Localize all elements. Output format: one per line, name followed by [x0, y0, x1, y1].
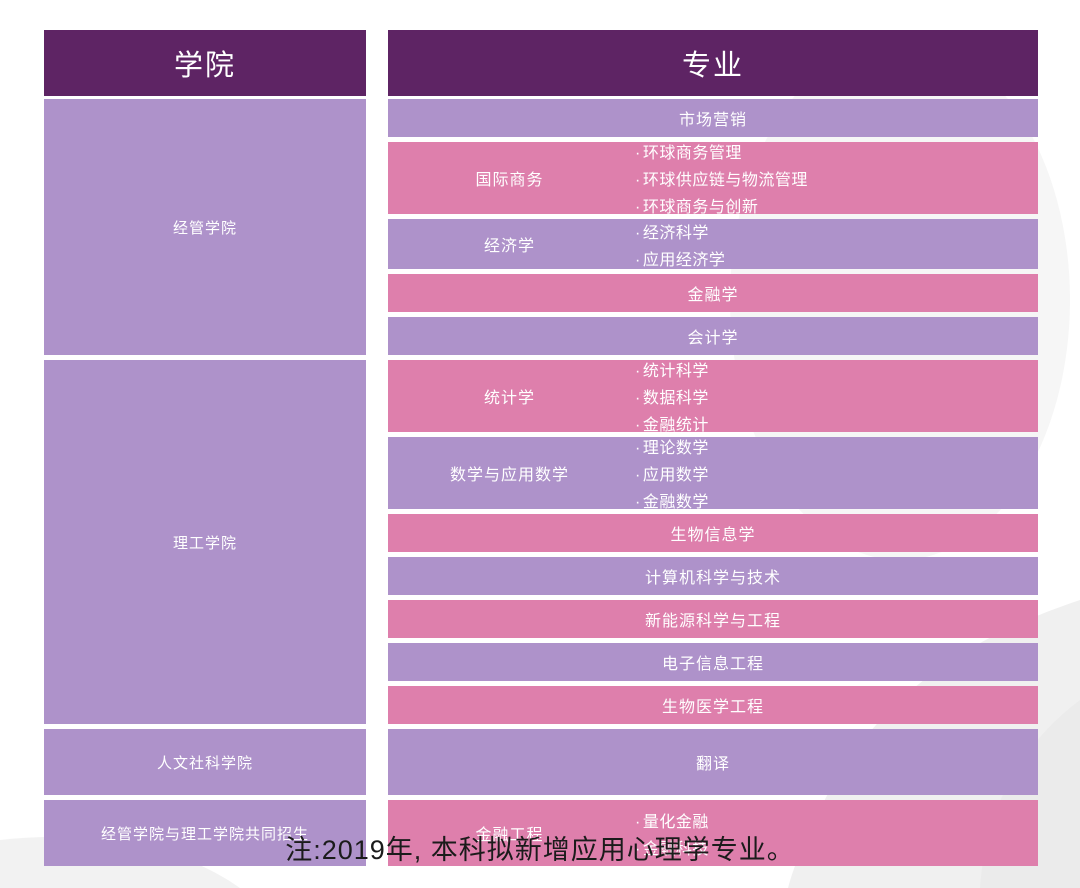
track-list: ·经济科学·应用经济学 [631, 219, 1038, 270]
track-list: ·统计科学·数据科学·金融统计 [631, 357, 1038, 435]
track-list: ·环球商务管理·环球供应链与物流管理·环球商务与创新 [631, 139, 1038, 217]
major-name: 计算机科学与技术 [388, 564, 1038, 588]
bullet-icon: · [635, 172, 641, 190]
major-name: 统计学 [388, 384, 631, 408]
major-name: 翻译 [388, 750, 1038, 774]
track-item: ·环球商务与创新 [635, 193, 1038, 217]
college-cell[interactable]: 理工学院 [44, 360, 366, 724]
major-name: 生物信息学 [388, 521, 1038, 545]
major-row[interactable]: 翻译 [388, 729, 1038, 795]
track-label: 应用经济学 [643, 252, 726, 269]
track-item: ·应用经济学 [635, 246, 1038, 270]
majors-column: 统计学·统计科学·数据科学·金融统计数学与应用数学·理论数学·应用数学·金融数学… [388, 360, 1038, 724]
bullet-icon: · [635, 225, 641, 243]
major-name: 会计学 [388, 324, 1038, 348]
track-label: 统计科学 [643, 363, 709, 380]
program-table: 学院 专业 经管学院市场营销国际商务·环球商务管理·环球供应链与物流管理·环球商… [0, 0, 1080, 888]
major-row[interactable]: 计算机科学与技术 [388, 557, 1038, 595]
majors-column: 市场营销国际商务·环球商务管理·环球供应链与物流管理·环球商务与创新经济学·经济… [388, 99, 1038, 355]
track-label: 环球供应链与物流管理 [643, 172, 808, 189]
table-section: 人文社科学院翻译 [44, 729, 1038, 795]
major-row[interactable]: 电子信息工程 [388, 643, 1038, 681]
track-label: 环球商务管理 [643, 145, 742, 162]
major-name: 数学与应用数学 [388, 461, 631, 485]
track-label: 经济科学 [643, 225, 709, 242]
major-row[interactable]: 统计学·统计科学·数据科学·金融统计 [388, 360, 1038, 432]
major-name: 经济学 [388, 232, 631, 256]
track-item: ·理论数学 [635, 434, 1038, 458]
track-label: 应用数学 [643, 467, 709, 484]
major-name: 市场营销 [388, 106, 1038, 130]
footnote: 注:2019年, 本科拟新增应用心理学专业。 [0, 828, 1080, 867]
major-name: 新能源科学与工程 [388, 607, 1038, 631]
college-cell[interactable]: 经管学院 [44, 99, 366, 355]
major-name: 国际商务 [388, 166, 631, 190]
track-item: ·环球供应链与物流管理 [635, 166, 1038, 190]
header-college: 学院 [44, 30, 366, 96]
track-label: 数据科学 [643, 390, 709, 407]
major-row[interactable]: 市场营销 [388, 99, 1038, 137]
major-row[interactable]: 会计学 [388, 317, 1038, 355]
track-item: ·金融数学 [635, 488, 1038, 512]
column-gap [366, 360, 388, 724]
bullet-icon: · [635, 494, 641, 512]
track-item: ·应用数学 [635, 461, 1038, 485]
track-item: ·环球商务管理 [635, 139, 1038, 163]
major-row[interactable]: 国际商务·环球商务管理·环球供应链与物流管理·环球商务与创新 [388, 142, 1038, 214]
bullet-icon: · [635, 199, 641, 217]
track-item: ·统计科学 [635, 357, 1038, 381]
bullet-icon: · [635, 417, 641, 435]
table-body: 经管学院市场营销国际商务·环球商务管理·环球供应链与物流管理·环球商务与创新经济… [44, 99, 1038, 871]
table-section: 理工学院统计学·统计科学·数据科学·金融统计数学与应用数学·理论数学·应用数学·… [44, 360, 1038, 724]
bullet-icon: · [635, 252, 641, 270]
bullet-icon: · [635, 363, 641, 381]
table-section: 经管学院市场营销国际商务·环球商务管理·环球供应链与物流管理·环球商务与创新经济… [44, 99, 1038, 355]
track-label: 理论数学 [643, 440, 709, 457]
bullet-icon: · [635, 440, 641, 458]
track-item: ·金融统计 [635, 411, 1038, 435]
track-list: ·理论数学·应用数学·金融数学 [631, 434, 1038, 512]
major-name: 电子信息工程 [388, 650, 1038, 674]
track-item: ·经济科学 [635, 219, 1038, 243]
track-label: 金融统计 [643, 417, 709, 434]
majors-column: 翻译 [388, 729, 1038, 795]
major-row[interactable]: 经济学·经济科学·应用经济学 [388, 219, 1038, 269]
major-row[interactable]: 数学与应用数学·理论数学·应用数学·金融数学 [388, 437, 1038, 509]
major-row[interactable]: 金融学 [388, 274, 1038, 312]
bullet-icon: · [635, 145, 641, 163]
major-row[interactable]: 生物信息学 [388, 514, 1038, 552]
major-name: 生物医学工程 [388, 693, 1038, 717]
major-row[interactable]: 新能源科学与工程 [388, 600, 1038, 638]
bullet-icon: · [635, 467, 641, 485]
table-header: 学院 专业 [44, 30, 1038, 96]
header-major: 专业 [388, 30, 1038, 96]
major-row[interactable]: 生物医学工程 [388, 686, 1038, 724]
bullet-icon: · [635, 390, 641, 408]
column-gap [366, 729, 388, 795]
college-cell[interactable]: 人文社科学院 [44, 729, 366, 795]
track-label: 环球商务与创新 [643, 199, 759, 216]
header-gap [366, 30, 388, 96]
column-gap [366, 99, 388, 355]
track-item: ·数据科学 [635, 384, 1038, 408]
major-name: 金融学 [388, 281, 1038, 305]
track-label: 金融数学 [643, 494, 709, 511]
